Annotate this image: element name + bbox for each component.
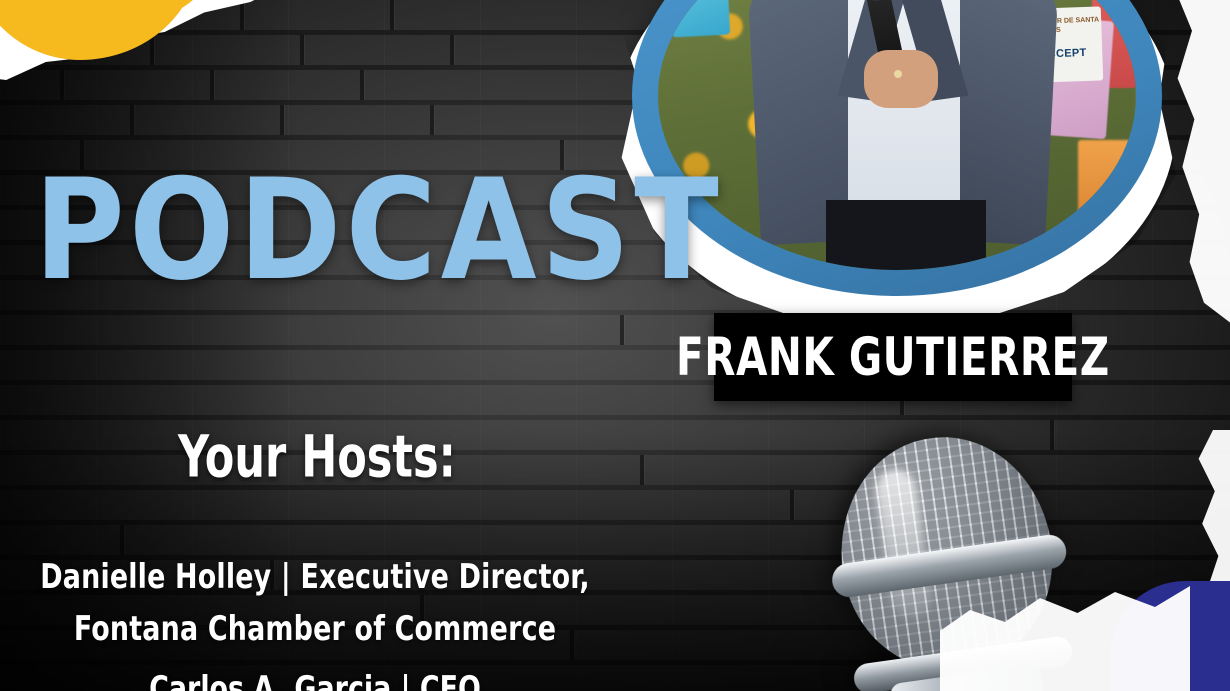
guest-name-text: FRANK GUTIERREZ [676, 326, 1110, 388]
guest-person-figure [658, 0, 1136, 270]
hosts-label: Your Hosts: [178, 424, 456, 491]
podcast-poster: GO CAFFE NOIR DE SANTA GERTRUDIS WE ACCE… [0, 0, 1230, 691]
finger-ring [894, 70, 902, 78]
host-entry-primary: Danielle Holley | Executive Director, Fo… [38, 552, 592, 655]
page-title: PODCAST [34, 160, 723, 299]
trousers [826, 200, 986, 270]
guest-name-plate: FRANK GUTIERREZ [714, 313, 1072, 401]
clasped-hands [864, 50, 938, 108]
host-entry-secondary: Carlos A. Garcia | CEO [38, 664, 592, 691]
guest-photo: GO CAFFE NOIR DE SANTA GERTRUDIS WE ACCE… [658, 0, 1136, 270]
